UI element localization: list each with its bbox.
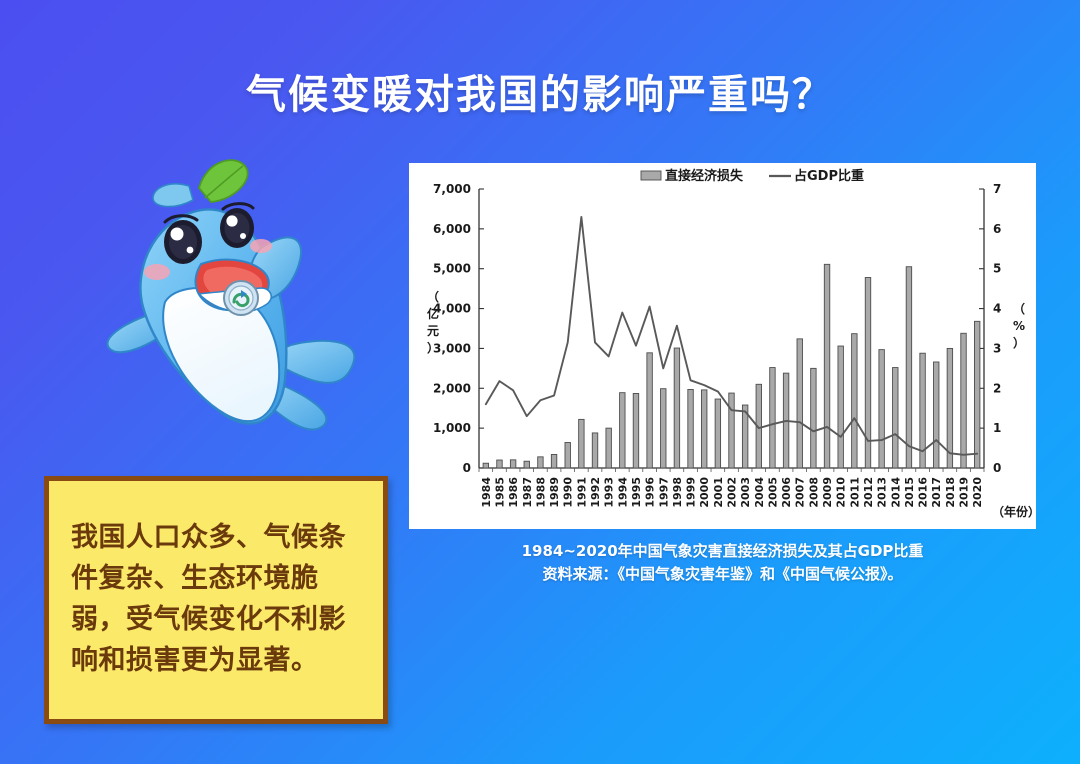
y-axis-label-char: ） [427, 340, 439, 355]
bar-group [579, 419, 584, 468]
y-tick-label-right: 6 [993, 222, 1001, 236]
x-tick-label-1984: 1984 [480, 477, 493, 508]
y-tick-label-left: 5,000 [433, 262, 471, 276]
x-tick-label-2012: 2012 [862, 477, 875, 508]
bar-1988 [538, 457, 543, 468]
bar-1993 [606, 428, 611, 468]
x-tick-label-1997: 1997 [657, 477, 670, 508]
dolphin-mascot-svg [95, 152, 385, 452]
bar-1994 [620, 393, 625, 468]
legend-label-bar: 直接经济损失 [665, 168, 744, 184]
y-tick-label-left: 0 [463, 461, 471, 475]
bar-1987 [524, 461, 529, 468]
legend-label-line: 占GDP比重 [794, 168, 864, 184]
chart-legend: 直接经济损失占GDP比重 [641, 168, 864, 184]
badge-icon [224, 281, 258, 315]
x-tick-label-1988: 1988 [534, 477, 547, 508]
bar-group [606, 428, 611, 468]
y-tick-label-right: 0 [993, 461, 1001, 475]
x-tick-label-1992: 1992 [589, 477, 602, 508]
bar-group [661, 389, 666, 468]
x-tick-label-2000: 2000 [698, 477, 711, 508]
x-tick-label-2010: 2010 [835, 477, 848, 508]
bar-group [947, 348, 952, 468]
caption-line-1: 1984~2020年中国气象灾害直接经济损失及其占GDP比重 [409, 540, 1036, 563]
x-tick-label-2002: 2002 [726, 477, 739, 508]
bar-2014 [893, 368, 898, 468]
y-axis-label-char: （ [427, 289, 439, 304]
x-tick-label-2016: 2016 [917, 477, 930, 508]
y-tick-label-right: 3 [993, 341, 1001, 355]
bar-group [838, 346, 843, 468]
x-tick-label-1985: 1985 [493, 477, 506, 508]
chart-canvas: 01,0002,0003,0004,0005,0006,0007,0000123… [409, 163, 1036, 529]
x-tick-label-1996: 1996 [644, 477, 657, 508]
bar-group [620, 393, 625, 468]
x-tick-label-2019: 2019 [958, 477, 971, 508]
bar-1998 [674, 348, 679, 468]
x-tick-label-2007: 2007 [794, 477, 807, 508]
bar-2005 [770, 368, 775, 468]
caption-line-2: 资料来源：《中国气象灾害年鉴》和《中国气候公报》。 [409, 563, 1036, 586]
bar-2018 [947, 348, 952, 468]
bar-group [688, 389, 693, 468]
bar-group [852, 334, 857, 468]
y-tick-label-right: 2 [993, 381, 1001, 395]
bar-group [510, 460, 515, 468]
bar-2020 [974, 321, 979, 468]
chart-panel: 01,0002,0003,0004,0005,0006,0007,0000123… [409, 163, 1036, 529]
x-tick-label-2003: 2003 [739, 477, 752, 508]
x-tick-label-2015: 2015 [903, 477, 916, 508]
bar-1989 [551, 454, 556, 468]
bar-2000 [701, 390, 706, 468]
y2-axis-label-char: ） [1013, 335, 1025, 350]
bar-group [934, 362, 939, 468]
bar-group [524, 461, 529, 468]
y-tick-label-right: 7 [993, 182, 1001, 196]
bar-group [647, 353, 652, 468]
bar-2010 [838, 346, 843, 468]
leaf-icon [153, 160, 248, 206]
bar-group [824, 264, 829, 468]
bar-1992 [592, 433, 597, 468]
bar-2002 [729, 393, 734, 468]
x-tick-label-2006: 2006 [780, 477, 793, 508]
y-tick-label-right: 5 [993, 262, 1001, 276]
dolphin-mascot [95, 152, 385, 452]
bar-group [674, 348, 679, 468]
slide-root: 气候变暖对我国的影响严重吗？ [0, 0, 1080, 764]
bar-1996 [647, 353, 652, 468]
legend-swatch-bar [641, 171, 661, 180]
x-tick-label-2001: 2001 [712, 477, 725, 508]
bar-group [497, 460, 502, 468]
bar-group [879, 350, 884, 468]
bar-2015 [906, 267, 911, 468]
bar-2019 [961, 333, 966, 468]
y2-axis-label-char: % [1013, 319, 1025, 333]
y-tick-label-left: 1,000 [433, 421, 471, 435]
x-tick-label-1993: 1993 [603, 477, 616, 508]
page-title: 气候变暖对我国的影响严重吗？ [0, 62, 1080, 120]
bar-group [811, 368, 816, 468]
x-axis-label: （年份） [992, 504, 1036, 519]
x-tick-label-1990: 1990 [562, 477, 575, 508]
x-tick-label-2011: 2011 [848, 477, 861, 508]
x-tick-label-2020: 2020 [971, 477, 984, 508]
y-tick-label-left: 7,000 [433, 182, 471, 196]
bar-group [729, 393, 734, 468]
bar-group [893, 368, 898, 468]
x-tick-label-1989: 1989 [548, 477, 561, 508]
y-tick-label-right: 1 [993, 421, 1001, 435]
x-tick-label-2018: 2018 [944, 477, 957, 508]
bar-group [538, 457, 543, 468]
bar-group [483, 463, 488, 468]
y-tick-label-right: 4 [993, 302, 1001, 316]
bar-2017 [934, 362, 939, 468]
y-axis-label-char: 亿 [427, 306, 439, 321]
bar-1991 [579, 419, 584, 468]
bar-1995 [633, 393, 638, 468]
bar-group [633, 393, 638, 468]
x-tick-label-1998: 1998 [671, 477, 684, 508]
bar-2007 [797, 339, 802, 468]
x-tick-label-1991: 1991 [575, 477, 588, 508]
y-tick-label-left: 2,000 [433, 381, 471, 395]
bar-group [961, 333, 966, 468]
x-tick-label-2009: 2009 [821, 477, 834, 508]
x-tick-label-2004: 2004 [753, 477, 766, 508]
bar-group [715, 399, 720, 468]
bar-2008 [811, 368, 816, 468]
note-text: 我国人口众多、气候条件复杂、生态环境脆弱，受气候变化不利影响和损害更为显著。 [71, 517, 371, 681]
bar-1985 [497, 460, 502, 468]
bar-1984 [483, 463, 488, 468]
bar-2013 [879, 350, 884, 468]
y-axis-label-char: 元 [427, 324, 439, 338]
bar-1997 [661, 389, 666, 468]
x-tick-label-2017: 2017 [930, 477, 943, 508]
bar-group [701, 390, 706, 468]
note-box: 我国人口众多、气候条件复杂、生态环境脆弱，受气候变化不利影响和损害更为显著。 [44, 476, 388, 724]
x-tick-label-2008: 2008 [807, 477, 820, 508]
bar-1986 [510, 460, 515, 468]
bar-1999 [688, 389, 693, 468]
x-tick-label-2014: 2014 [889, 477, 902, 508]
bar-2001 [715, 399, 720, 468]
bar-group [565, 442, 570, 468]
x-tick-label-1999: 1999 [685, 477, 698, 508]
bar-group [974, 321, 979, 468]
bar-2011 [852, 334, 857, 468]
y2-axis-label-char: （ [1013, 301, 1025, 316]
x-tick-label-1986: 1986 [507, 477, 520, 508]
bar-group [770, 368, 775, 468]
bar-1990 [565, 442, 570, 468]
x-tick-label-1987: 1987 [521, 477, 534, 508]
x-tick-label-2005: 2005 [766, 477, 779, 508]
x-tick-label-1994: 1994 [616, 477, 629, 508]
bar-group [906, 267, 911, 468]
y-tick-label-left: 6,000 [433, 222, 471, 236]
x-tick-label-1995: 1995 [630, 477, 643, 508]
economic-loss-chart: 01,0002,0003,0004,0005,0006,0007,0000123… [409, 163, 1036, 529]
bar-group [551, 454, 556, 468]
bar-2009 [824, 264, 829, 468]
bar-group [797, 339, 802, 468]
bar-group [592, 433, 597, 468]
x-tick-label-2013: 2013 [876, 477, 889, 508]
chart-caption: 1984~2020年中国气象灾害直接经济损失及其占GDP比重 资料来源：《中国气… [409, 540, 1036, 587]
